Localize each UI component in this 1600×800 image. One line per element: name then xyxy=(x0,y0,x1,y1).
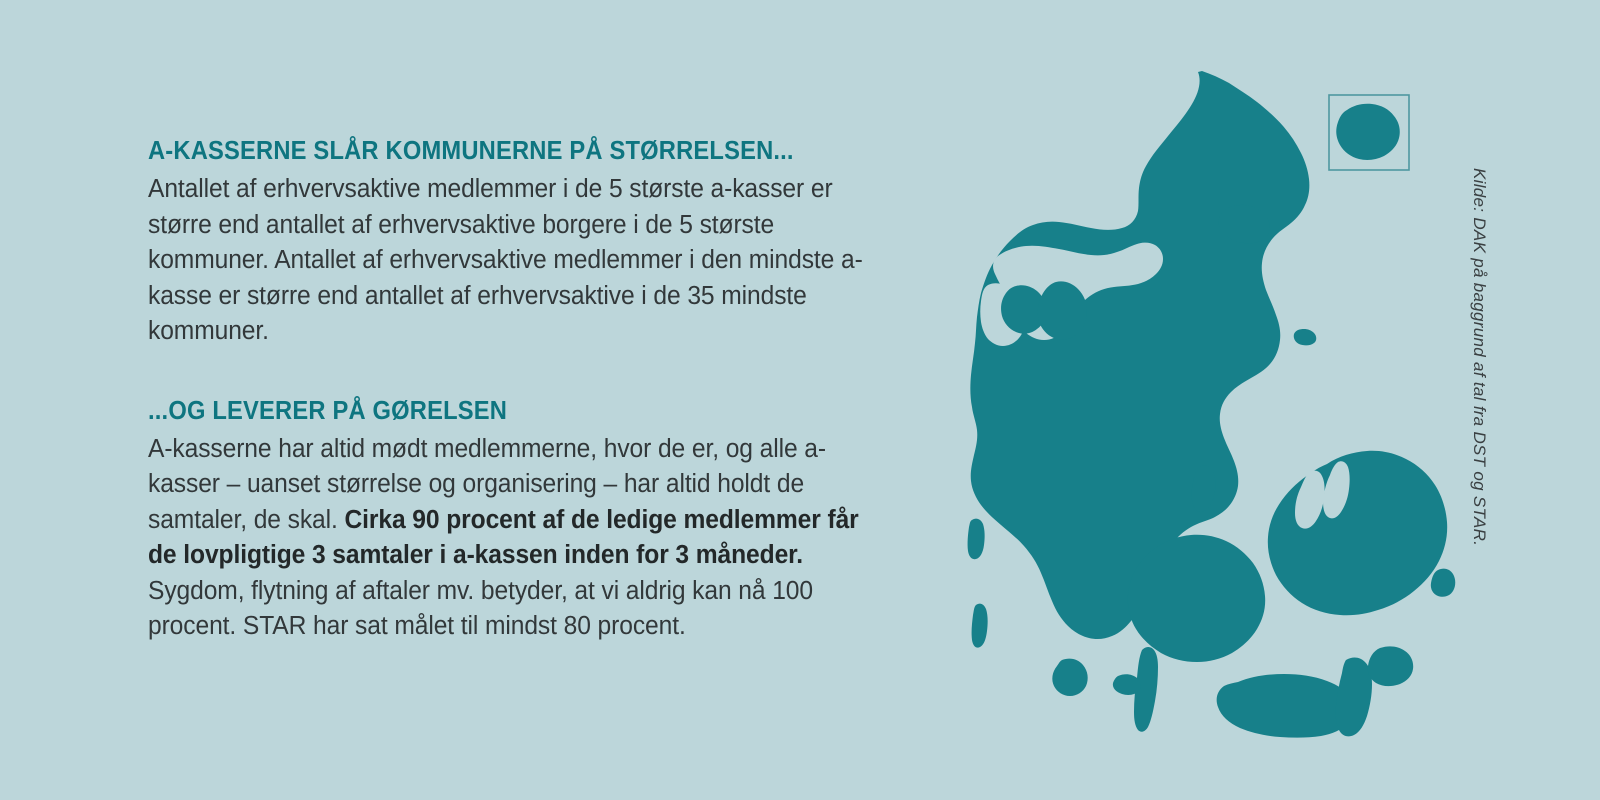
denmark-map xyxy=(880,60,1500,740)
section-heading-1: A-KASSERNE SLÅR KOMMUNERNE PÅ STØRRELSEN… xyxy=(148,136,855,166)
content-block-1: A-KASSERNE SLÅR KOMMUNERNE PÅ STØRRELSEN… xyxy=(148,136,908,350)
infographic-canvas: A-KASSERNE SLÅR KOMMUNERNE PÅ STØRRELSEN… xyxy=(0,0,1600,800)
map-island-mon xyxy=(1368,646,1413,686)
map-island-lolland xyxy=(1217,674,1354,738)
section-paragraph-1: Antallet af erhvervsaktive medlemmer i d… xyxy=(148,172,881,350)
paragraph-2-tail: Sygdom, flytning af aftaler mv. betyder,… xyxy=(148,577,813,641)
map-island-falster xyxy=(1336,658,1372,737)
map-region-amager xyxy=(1431,569,1455,597)
content-block-2: ...OG LEVERER PÅ GØRELSEN A-kasserne har… xyxy=(148,396,908,645)
map-island-romo xyxy=(972,604,988,648)
map-region-jutland xyxy=(970,71,1309,639)
map-region-zealand xyxy=(1268,451,1447,615)
map-island-anholt xyxy=(1294,329,1317,345)
map-island-als xyxy=(1052,659,1087,696)
map-island-fano xyxy=(968,519,985,560)
section-heading-2: ...OG LEVERER PÅ GØRELSEN xyxy=(148,396,855,426)
section-paragraph-2: A-kasserne har altid mødt medlemmerne, h… xyxy=(148,432,881,645)
map-island-bornholm xyxy=(1336,104,1400,160)
text-column: A-KASSERNE SLÅR KOMMUNERNE PÅ STØRRELSEN… xyxy=(148,136,908,645)
map-region-funen xyxy=(1128,535,1265,662)
map-island-aero xyxy=(1113,674,1141,695)
